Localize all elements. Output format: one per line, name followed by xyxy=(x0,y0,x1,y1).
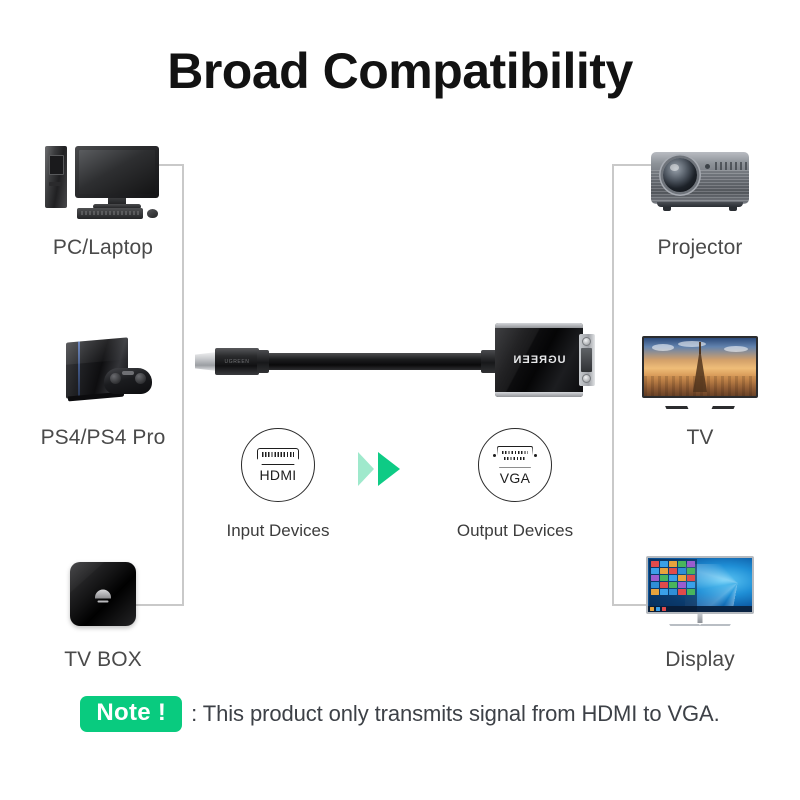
double-arrow-right-icon xyxy=(358,452,410,488)
brand-logo-mark xyxy=(95,590,111,599)
display-foot-right xyxy=(700,618,735,626)
hdmi-strain-relief xyxy=(257,350,269,373)
note-text: : This product only transmits signal fro… xyxy=(191,701,719,727)
input-devices-caption: Input Devices xyxy=(208,521,348,541)
projector-icon xyxy=(605,136,795,222)
output-device-display: Display xyxy=(605,548,795,672)
tv-icon xyxy=(605,326,795,412)
mouse-shape xyxy=(147,209,158,218)
output-devices-caption: Output Devices xyxy=(445,521,585,541)
tv-box-shape xyxy=(70,562,136,626)
vga-adapter-body: UGREEN xyxy=(495,323,583,397)
projector-sensor-shape xyxy=(705,164,710,169)
page-title: Broad Compatibility xyxy=(0,44,800,99)
input-port-badge: HDMI Input Devices xyxy=(208,428,348,541)
vga-port-icon: VGA xyxy=(478,428,552,502)
tv-screen-image xyxy=(644,338,756,396)
display-frame-shape xyxy=(646,556,754,614)
projector-lens-shape xyxy=(663,158,697,192)
arrow-triangle-light xyxy=(358,452,374,486)
device-label: Display xyxy=(605,648,795,672)
device-label: Projector xyxy=(605,236,795,260)
adapter-brand-text: UGREEN xyxy=(512,354,565,366)
device-label: TV BOX xyxy=(8,648,198,672)
display-screen-image xyxy=(648,558,752,612)
tv-stand-shape xyxy=(654,398,746,406)
port-label: HDMI xyxy=(260,468,297,482)
display-icon xyxy=(605,548,795,634)
output-port-badge: VGA Output Devices xyxy=(445,428,585,541)
keyboard-shape xyxy=(77,208,143,219)
product-adapter-image: UGREEN UGREEN xyxy=(195,320,605,396)
device-label: PC/Laptop xyxy=(8,236,198,260)
input-device-ps4: PS4/PS4 Pro xyxy=(8,326,198,450)
hdmi-connector-glyph xyxy=(257,448,299,465)
device-label: TV xyxy=(605,426,795,450)
monitor-shape xyxy=(75,146,159,198)
projector-leg-left xyxy=(663,207,671,211)
infographic-page: Broad Compatibility PC/Laptop xyxy=(0,0,800,800)
vga-output-port xyxy=(579,334,595,386)
vga-body-cap-bottom xyxy=(495,392,583,397)
display-foot-left xyxy=(666,618,701,626)
tv-box-icon xyxy=(8,548,198,634)
hdmi-plug-tip xyxy=(195,352,217,371)
vga-body-cap-top xyxy=(495,323,583,328)
start-menu-tiles xyxy=(649,559,697,612)
projector-leg-right xyxy=(729,207,737,211)
input-device-pc-laptop: PC/Laptop xyxy=(8,136,198,260)
gamepad-shape xyxy=(104,368,152,394)
hdmi-plug-brand: UGREEN xyxy=(225,359,250,365)
vga-connector-glyph xyxy=(493,446,537,468)
note-row: Note ! : This product only transmits sig… xyxy=(0,696,800,732)
input-device-tv-box: TV BOX xyxy=(8,548,198,672)
projector-vents-shape xyxy=(715,162,749,170)
pc-laptop-icon xyxy=(8,136,198,222)
output-device-tv: TV xyxy=(605,326,795,450)
device-label: PS4/PS4 Pro xyxy=(8,426,198,450)
port-label: VGA xyxy=(500,471,530,485)
hdmi-plug-housing: UGREEN xyxy=(215,348,259,375)
tv-frame-shape xyxy=(642,336,758,398)
note-badge: Note ! xyxy=(80,696,182,732)
arrow-triangle-solid xyxy=(378,452,400,486)
computer-tower-shape xyxy=(45,146,67,208)
ps4-icon xyxy=(8,326,198,412)
output-device-projector: Projector xyxy=(605,136,795,260)
hdmi-port-icon: HDMI xyxy=(241,428,315,502)
